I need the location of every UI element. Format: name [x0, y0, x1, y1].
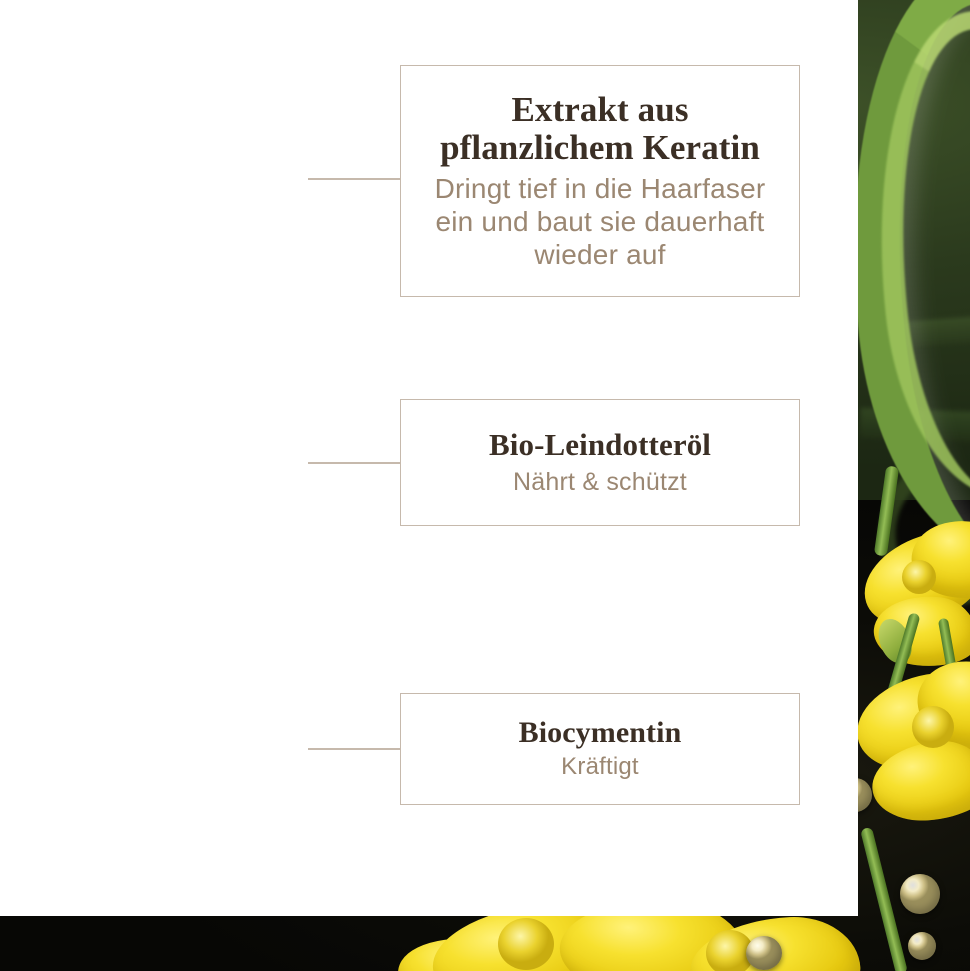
ingredient-subtitle: Kräftigt [561, 753, 639, 782]
connector-line-3 [308, 748, 400, 750]
background-droplet-2 [908, 932, 936, 960]
poster-stage: Extrakt aus pflanzlichem Keratin Dringt … [0, 0, 970, 971]
background-flower-center-2 [912, 706, 954, 748]
ingredient-card-keratin: Extrakt aus pflanzlichem Keratin Dringt … [400, 65, 800, 297]
ingredient-title: Bio-Leindotteröl [489, 428, 711, 462]
background-flower-center-1 [902, 560, 936, 594]
ingredient-subtitle: Dringt tief in die Haarfaser ein und bau… [415, 172, 785, 271]
ingredient-card-biocymentin: Biocymentin Kräftigt [400, 693, 800, 805]
ingredient-title: Biocymentin [519, 716, 682, 749]
background-droplet-4 [746, 936, 782, 970]
connector-line-1 [308, 178, 400, 180]
ingredient-subtitle: Nährt & schützt [513, 467, 687, 497]
background-flower-center-3 [498, 918, 554, 970]
ingredient-title: Extrakt aus pflanzlichem Keratin [415, 91, 785, 167]
connector-line-2 [308, 462, 400, 464]
background-droplet-1 [900, 874, 940, 914]
ingredient-card-leindotteroel: Bio-Leindotteröl Nährt & schützt [400, 399, 800, 526]
